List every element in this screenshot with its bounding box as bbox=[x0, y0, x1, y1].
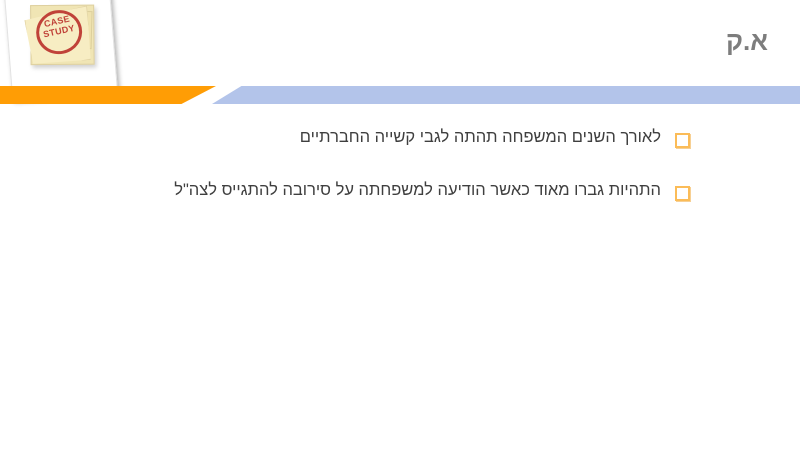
bullet-text: לאורך השנים המשפחה תהתה לגבי קשייה החברת… bbox=[300, 126, 661, 148]
bullet-square-icon bbox=[675, 133, 690, 148]
case-study-photo-inner: CASE STUDY bbox=[14, 0, 108, 78]
slide-header: CASE STUDY א.ק bbox=[0, 0, 800, 96]
slide-body: לאורך השנים המשפחה תהתה לגבי קשייה החברת… bbox=[0, 104, 800, 450]
divider-bar-orange bbox=[0, 86, 216, 104]
bullet-item: התהיות גברו מאוד כאשר הודיעה למשפחתה על … bbox=[0, 179, 800, 201]
slide-title: א.ק bbox=[726, 26, 768, 57]
divider-bar-blue bbox=[212, 86, 800, 104]
bullet-square-icon bbox=[675, 186, 690, 201]
slide-canvas: CASE STUDY א.ק לאורך השנים המשפחה תהתה ל… bbox=[0, 0, 800, 450]
bullet-item: לאורך השנים המשפחה תהתה לגבי קשייה החברת… bbox=[0, 126, 800, 148]
case-study-photo-frame: CASE STUDY bbox=[4, 0, 118, 100]
case-study-stamp-label: CASE STUDY bbox=[36, 13, 79, 40]
bullet-text: התהיות גברו מאוד כאשר הודיעה למשפחתה על … bbox=[174, 179, 661, 201]
